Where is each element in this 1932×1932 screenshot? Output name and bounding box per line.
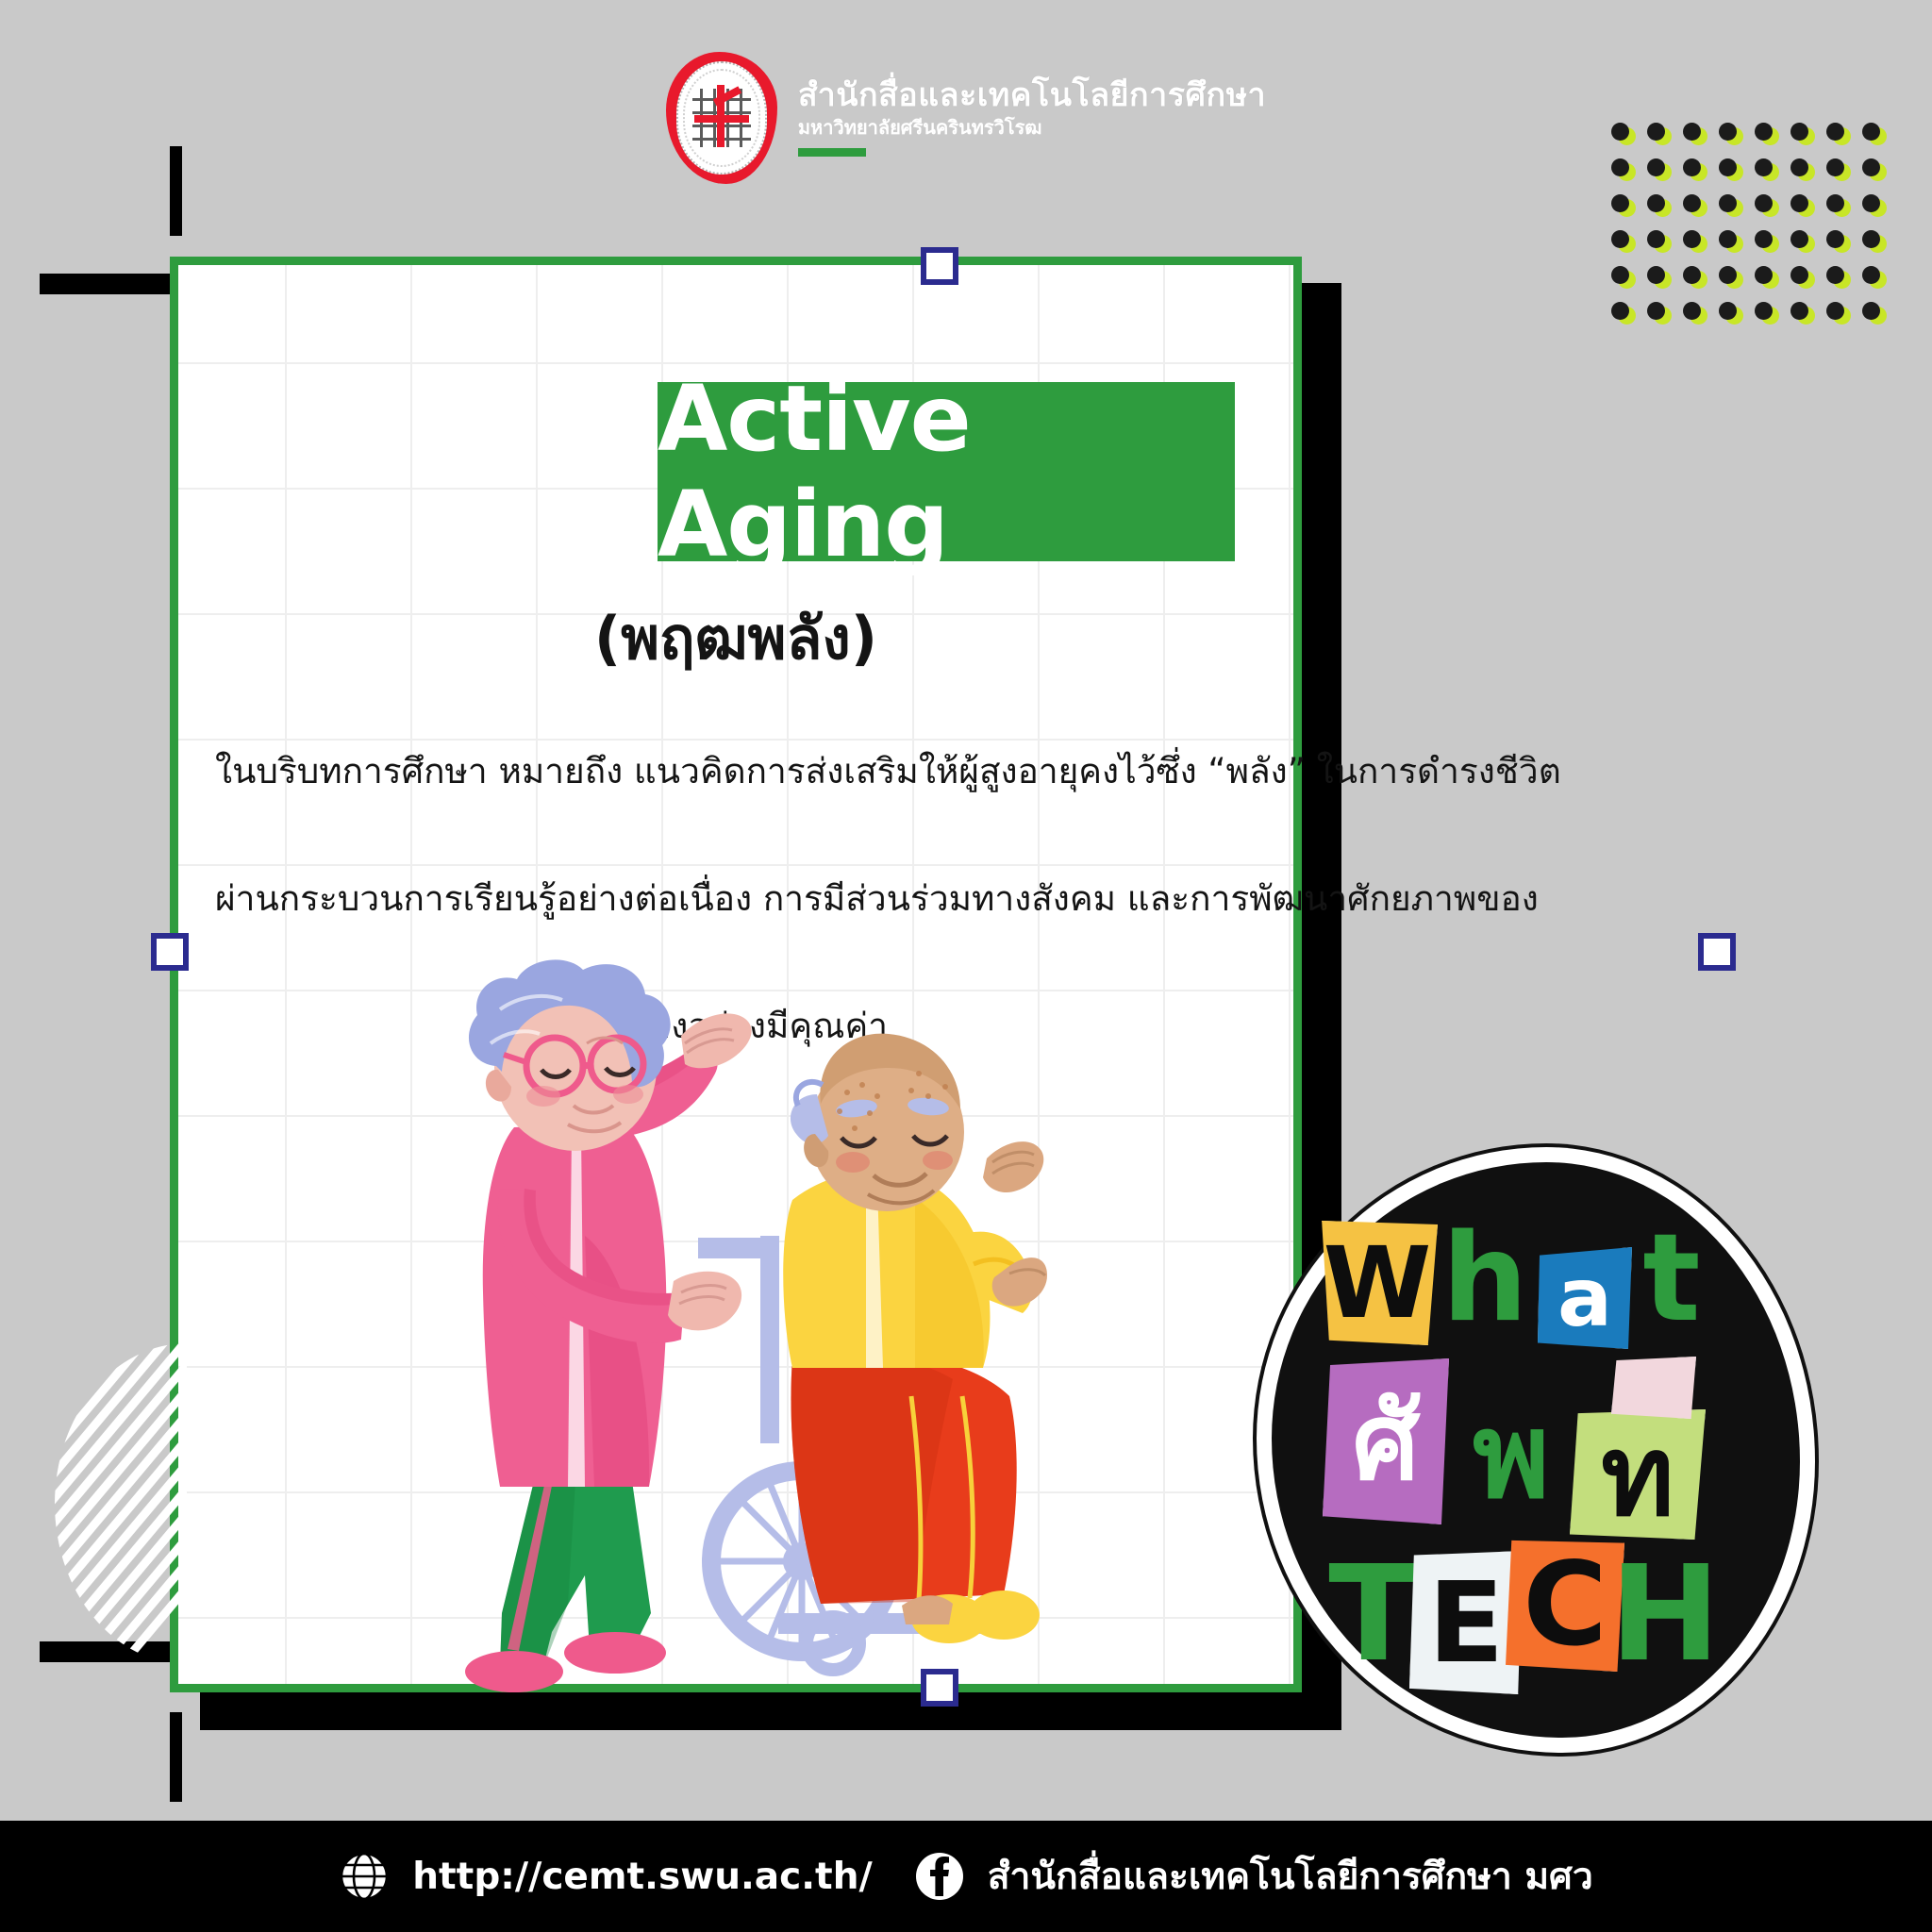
dot-black	[1647, 194, 1665, 212]
dot-black	[1683, 194, 1701, 212]
brand-rule	[798, 148, 866, 157]
website-url[interactable]: http://cemt.swu.ac.th/	[412, 1856, 872, 1898]
org-name: สำนักสื่อและเทคโนโลยีการศึกษา	[798, 79, 1266, 111]
dot-black	[1790, 302, 1808, 320]
page-title: Active Aging	[658, 366, 1235, 577]
sticker-letter: ท	[1570, 1409, 1706, 1540]
dot-black	[1719, 266, 1737, 284]
dot-black	[1790, 230, 1808, 248]
subtitle: (พฤฒพลัง)	[170, 592, 1302, 685]
elderly-exercise-illustration	[349, 953, 1047, 1698]
dot-black	[1611, 230, 1629, 248]
sticker-letter: W	[1317, 1221, 1438, 1345]
dot-black	[1719, 302, 1737, 320]
dot-black	[1647, 230, 1665, 248]
dot-black	[1826, 230, 1844, 248]
dot-black	[1683, 302, 1701, 320]
dot-black	[1683, 266, 1701, 284]
paragraph-line-1: ในบริบทการศึกษา หมายถึง แนวคิดการส่งเสริ…	[215, 708, 1264, 835]
dot-black	[1790, 266, 1808, 284]
dot-black	[1755, 266, 1773, 284]
sticker-letter: ์	[1611, 1357, 1696, 1419]
dot-black	[1826, 194, 1844, 212]
sticker-letter: C	[1506, 1538, 1624, 1672]
paragraph-line-2: ผ่านกระบวนการเรียนรู้อย่างต่อเนื่อง การม…	[215, 835, 1264, 962]
registration-marker-right	[1698, 933, 1736, 971]
dot-black	[1755, 194, 1773, 212]
dot-black	[1611, 266, 1629, 284]
dot-black	[1683, 230, 1701, 248]
university-name: มหาวิทยาลัยศรีนครินทรวิโรฒ	[798, 119, 1266, 138]
sticker-letter: T	[1330, 1543, 1417, 1685]
footer-bar: http://cemt.swu.ac.th/ สำนักสื่อและเทคโน…	[0, 1821, 1932, 1932]
dot-black	[1611, 302, 1629, 320]
title-band: Active Aging	[658, 382, 1235, 561]
dot-black	[1755, 302, 1773, 320]
sticker-letter: ศั	[1323, 1358, 1449, 1524]
dot-black	[1719, 230, 1737, 248]
dot-black	[1647, 302, 1665, 320]
dot-black	[1647, 266, 1665, 284]
sticker-letter: h	[1443, 1211, 1526, 1345]
sticker-letter: a	[1538, 1247, 1632, 1349]
crop-mark-bottom-left-v	[170, 1712, 182, 1802]
dot-black	[1862, 266, 1880, 284]
sticker-letter: E	[1409, 1551, 1523, 1694]
what-sap-tech-logo: W h a t ศั พ ท ์ T E C H	[1272, 1162, 1800, 1738]
swu-seal-icon	[666, 52, 777, 184]
dot-black	[1790, 194, 1808, 212]
globe-icon	[339, 1851, 390, 1902]
registration-marker-top	[921, 247, 958, 285]
dot-black	[1862, 302, 1880, 320]
dot-black	[1826, 302, 1844, 320]
poster-canvas: สำนักสื่อและเทคโนโลยีการศึกษา มหาวิทยาลั…	[0, 0, 1932, 1932]
registration-marker-left	[151, 933, 189, 971]
brand-text: สำนักสื่อและเทคโนโลยีการศึกษา มหาวิทยาลั…	[798, 79, 1266, 157]
facebook-icon[interactable]	[914, 1851, 965, 1902]
crop-mark-top-left-h	[40, 274, 186, 294]
dot-black	[1862, 230, 1880, 248]
sticker-letter: พ	[1457, 1389, 1566, 1521]
dot-black	[1826, 266, 1844, 284]
facebook-page-name[interactable]: สำนักสื่อและเทคโนโลยีการศึกษา มศว	[988, 1847, 1593, 1906]
dot-black	[1862, 194, 1880, 212]
dot-black	[1611, 194, 1629, 212]
dot-black	[1755, 230, 1773, 248]
dot-black	[1719, 194, 1737, 212]
sticker-letter: t	[1636, 1211, 1707, 1345]
hatch-arc-decoration	[55, 1343, 187, 1664]
sticker-letter: H	[1615, 1543, 1715, 1685]
header: สำนักสื่อและเทคโนโลยีการศึกษา มหาวิทยาลั…	[0, 52, 1932, 184]
